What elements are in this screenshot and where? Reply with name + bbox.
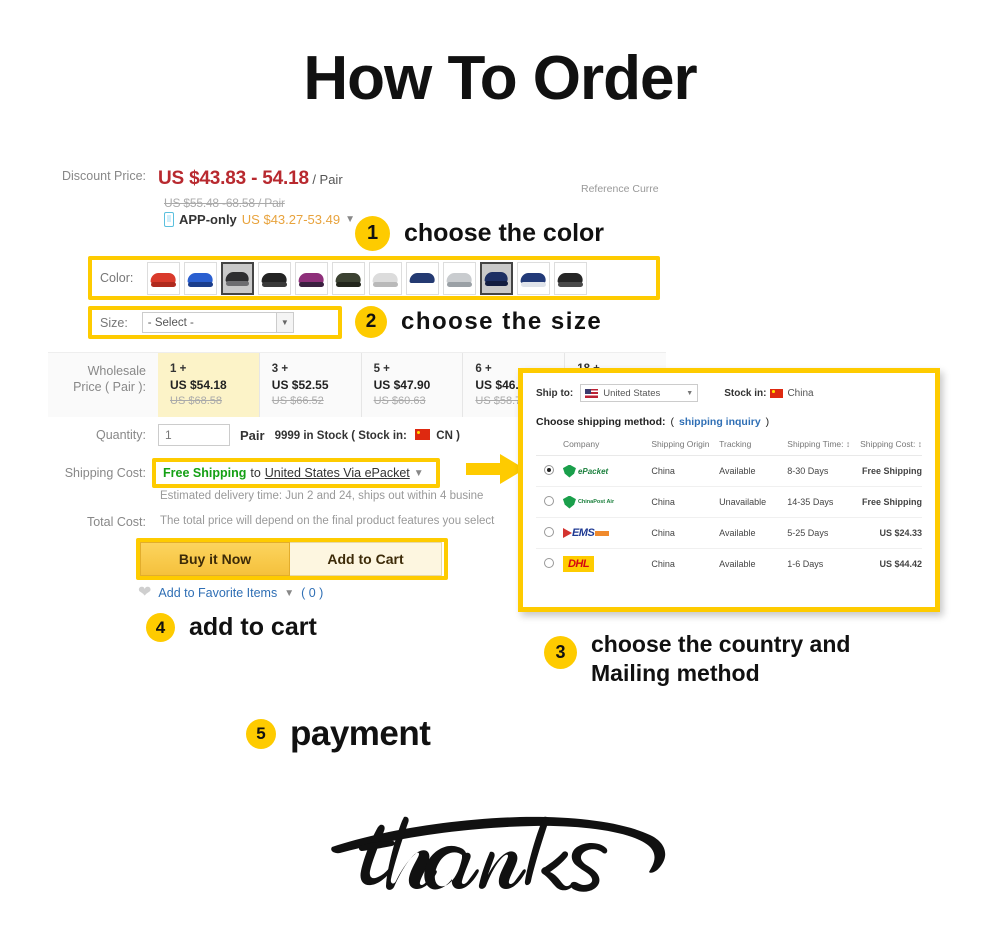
shipping-method-radio-cell[interactable] <box>536 549 563 580</box>
tier-old-price: US $68.58 <box>170 393 259 409</box>
color-swatch-black[interactable] <box>258 262 291 295</box>
shipping-cost-label: Shipping Cost: <box>48 466 158 480</box>
sort-icon[interactable]: ↕ <box>846 439 850 449</box>
tier-price: US $47.90 <box>374 377 463 393</box>
step-4-annotation: 4 add to cart <box>146 613 317 642</box>
shipping-origin-cell: China <box>651 549 719 580</box>
color-selector: Color: <box>92 260 656 296</box>
header-shipping-origin: Shipping Origin <box>651 436 719 456</box>
stock-country: CN ) <box>436 430 460 442</box>
carrier-cell: ChinaPost Air <box>563 487 651 518</box>
favorite-count: ( 0 ) <box>301 586 323 600</box>
shipping-time-cell: 14-35 Days <box>787 487 853 518</box>
shipping-popup-inner: Ship to: United States ▼ Stock in: China… <box>523 373 935 607</box>
step-1-badge: 1 <box>355 216 390 251</box>
shipping-method-popup: Ship to: United States ▼ Stock in: China… <box>518 368 940 612</box>
quantity-input[interactable]: 1 <box>158 424 230 446</box>
china-flag-icon <box>770 389 783 398</box>
size-label: Size: <box>100 316 128 330</box>
size-selector: Size: - Select - ▼ <box>92 310 338 335</box>
discount-price-value: US $43.83 - 54.18 <box>158 168 309 189</box>
how-to-order-infographic: How To Order Discount Price: US $43.83 -… <box>0 0 1000 925</box>
inquiry-paren-close: ) <box>766 416 770 428</box>
shipping-table-header-row: Company Shipping Origin Tracking Shippin… <box>536 436 922 456</box>
radio-button-icon[interactable] <box>544 527 554 537</box>
shoe-thumbnail-icon <box>299 273 324 287</box>
shipping-cost-cell: Free Shipping <box>853 487 922 518</box>
radio-button-icon[interactable] <box>544 558 554 568</box>
color-swatch-list <box>147 262 587 295</box>
radio-button-icon[interactable] <box>544 496 554 506</box>
stock-in-value: China <box>787 388 813 399</box>
shipping-method-radio-cell[interactable] <box>536 518 563 549</box>
shipping-method-radio-cell[interactable] <box>536 487 563 518</box>
size-dropdown[interactable]: - Select - ▼ <box>142 312 294 333</box>
action-buttons-highlight: Buy it Now Add to Cart <box>136 538 448 580</box>
country-dropdown[interactable]: United States ▼ <box>580 384 698 402</box>
color-swatch-blue[interactable] <box>184 262 217 295</box>
reference-currency-label: Reference Curre <box>581 183 659 195</box>
choose-shipping-method-row: Choose shipping method: (shipping inquir… <box>536 416 922 428</box>
shoe-thumbnail-icon <box>373 273 398 287</box>
tier-price: US $54.18 <box>170 377 259 393</box>
price-tier: 3 +US $52.55US $66.52 <box>260 353 362 417</box>
tracking-cell: Unavailable <box>719 487 787 518</box>
shipping-time-cell: 5-25 Days <box>787 518 853 549</box>
country-value: United States <box>603 388 660 399</box>
shipping-origin-cell: China <box>651 487 719 518</box>
sort-icon[interactable]: ↕ <box>918 439 922 449</box>
mobile-phone-icon <box>164 212 174 227</box>
color-swatch-light-grey[interactable] <box>443 262 476 295</box>
size-selector-highlight: Size: - Select - ▼ <box>88 306 342 339</box>
step-5-annotation: 5 payment <box>246 714 430 754</box>
step-4-text: add to cart <box>189 613 317 642</box>
shoe-thumbnail-icon <box>226 272 249 286</box>
shipping-cost-value[interactable]: Free Shipping to United States Via ePack… <box>156 462 436 484</box>
shoe-thumbnail-icon <box>151 273 176 287</box>
tier-quantity: 5 + <box>374 361 463 377</box>
us-flag-icon <box>585 389 598 398</box>
color-swatch-navy-blue[interactable] <box>517 262 550 295</box>
header-company: Company <box>563 436 651 456</box>
free-shipping-text: Free Shipping <box>163 466 246 480</box>
color-swatch-purple-magenta[interactable] <box>295 262 328 295</box>
step-5-text: payment <box>290 714 430 754</box>
color-swatch-navy[interactable] <box>406 262 439 295</box>
shipping-method-row[interactable]: ePacketChinaAvailable8-30 DaysFree Shipp… <box>536 456 922 487</box>
page-title: How To Order <box>0 48 1000 110</box>
estimated-delivery-text: Estimated delivery time: Jun 2 and 24, s… <box>160 490 540 502</box>
step-2-annotation: 2 choose the size <box>355 306 602 338</box>
color-swatch-royal-navy[interactable] <box>480 262 513 295</box>
chevron-down-icon[interactable]: ▼ <box>686 390 693 397</box>
header-shipping-time[interactable]: Shipping Time: ↕ <box>787 436 853 456</box>
header-shipping-cost-label: Shipping Cost: <box>860 439 915 449</box>
ems-logo: EMS <box>563 525 651 541</box>
size-dropdown-value: - Select - <box>148 317 194 329</box>
step-1-text: choose the color <box>404 219 604 248</box>
chevron-down-icon[interactable]: ▼ <box>414 468 424 479</box>
discount-price-unit: / Pair <box>312 172 342 187</box>
shipping-method-row[interactable]: ChinaPost AirChinaUnavailable14-35 DaysF… <box>536 487 922 518</box>
wholesale-label-line2: Price ( Pair ): <box>48 379 146 395</box>
radio-button-icon[interactable] <box>544 465 554 475</box>
tier-quantity: 1 + <box>170 361 259 377</box>
wholesale-price-label: Wholesale Price ( Pair ): <box>48 353 158 417</box>
carrier-cell: EMS <box>563 518 651 549</box>
add-to-favorite-row[interactable]: ❤ Add to Favorite Items ▼ ( 0 ) <box>138 585 323 601</box>
carrier-cell: ePacket <box>563 456 651 487</box>
shipping-methods-table: Company Shipping Origin Tracking Shippin… <box>536 436 922 579</box>
choose-shipping-method-label: Choose shipping method: <box>536 416 666 428</box>
header-shipping-cost[interactable]: Shipping Cost: ↕ <box>853 436 922 456</box>
shipping-popup-header: Ship to: United States ▼ Stock in: China <box>536 384 922 402</box>
step-1-annotation: 1 choose the color <box>355 216 604 251</box>
tier-quantity: 3 + <box>272 361 361 377</box>
shipping-origin-cell: China <box>651 456 719 487</box>
step-2-badge: 2 <box>355 306 387 338</box>
stock-info: 9999 in Stock ( Stock in: CN ) <box>275 429 460 442</box>
shipping-cost-cell: US $44.42 <box>853 549 922 580</box>
add-to-cart-button[interactable]: Add to Cart <box>290 542 442 576</box>
heart-icon: ❤ <box>138 585 151 601</box>
discount-price-label: Discount Price: <box>48 168 158 185</box>
step-5-badge: 5 <box>246 719 276 749</box>
ship-to-word: to <box>250 466 260 480</box>
shipping-time-cell: 8-30 Days <box>787 456 853 487</box>
stock-in-label: Stock in: <box>724 388 766 399</box>
buy-it-now-button[interactable]: Buy it Now <box>140 542 290 576</box>
dhl-logo: DHL <box>563 556 651 572</box>
shoe-thumbnail-icon <box>262 273 287 287</box>
color-swatch-black-grey[interactable] <box>221 262 254 295</box>
shipping-inquiry-link[interactable]: shipping inquiry <box>679 416 761 428</box>
color-swatch-white-grey[interactable] <box>369 262 402 295</box>
shipping-cost-cell: Free Shipping <box>853 456 922 487</box>
carrier-cell: DHL <box>563 549 651 580</box>
quantity-label: Quantity: <box>48 428 158 442</box>
shipping-table-body: ePacketChinaAvailable8-30 DaysFree Shipp… <box>536 456 922 580</box>
stock-count-text: 9999 in Stock ( Stock in: <box>275 430 407 442</box>
tracking-cell: Available <box>719 549 787 580</box>
wholesale-label-line1: Wholesale <box>48 363 146 379</box>
quantity-unit: Pair <box>240 428 265 443</box>
price-tier: 1 +US $54.18US $68.58 <box>158 353 260 417</box>
step-4-badge: 4 <box>146 613 175 642</box>
shoe-thumbnail-icon <box>336 273 361 287</box>
shipping-cost-highlight: Free Shipping to United States Via ePack… <box>152 458 440 488</box>
shoe-thumbnail-icon <box>521 273 546 287</box>
add-to-favorite-label[interactable]: Add to Favorite Items <box>158 586 277 600</box>
ship-to-label: Ship to: <box>536 388 573 399</box>
chinapost-logo: ChinaPost Air <box>563 494 651 510</box>
total-cost-label: Total Cost: <box>48 515 158 529</box>
flow-arrow-icon <box>466 452 526 486</box>
tier-old-price: US $66.52 <box>272 393 361 409</box>
step-2-text: choose the size <box>401 308 602 336</box>
china-flag-icon <box>415 429 430 440</box>
header-select <box>536 436 563 456</box>
shipping-origin-cell: China <box>651 518 719 549</box>
color-selector-highlight: Color: <box>88 256 660 300</box>
header-shipping-time-label: Shipping Time: <box>787 439 843 449</box>
shoe-thumbnail-icon <box>485 272 508 286</box>
shipping-destination-link[interactable]: United States Via ePacket <box>265 466 410 480</box>
epacket-logo: ePacket <box>563 463 651 479</box>
step-3-text: choose the country and Mailing method <box>591 630 850 688</box>
app-only-price: US $43.27-53.49 <box>242 212 340 227</box>
shoe-thumbnail-icon <box>447 273 472 287</box>
total-cost-text: The total price will depend on the final… <box>160 515 494 527</box>
tracking-cell: Available <box>719 456 787 487</box>
shoe-thumbnail-icon <box>558 273 583 287</box>
shipping-cost-cell: US $24.33 <box>853 518 922 549</box>
action-buttons: Buy it Now Add to Cart <box>140 542 444 576</box>
shipping-table-head: Company Shipping Origin Tracking Shippin… <box>536 436 922 456</box>
app-only-label: APP-only <box>179 212 237 227</box>
step-3-badge: 3 <box>544 636 577 669</box>
chevron-down-icon[interactable]: ▼ <box>345 214 355 225</box>
header-tracking: Tracking <box>719 436 787 456</box>
shipping-method-radio-cell[interactable] <box>536 456 563 487</box>
old-price-value: US $55.48 -68.58 / Pair <box>164 196 688 210</box>
inquiry-paren-open: ( <box>671 416 675 428</box>
color-label: Color: <box>100 271 133 285</box>
step-3-annotation: 3 choose the country and Mailing method <box>544 630 850 688</box>
shipping-time-cell: 1-6 Days <box>787 549 853 580</box>
stock-in-group: Stock in: China <box>724 388 813 399</box>
thanks-signature <box>320 795 690 905</box>
tier-old-price: US $60.63 <box>374 393 463 409</box>
shipping-method-row[interactable]: EMSChinaAvailable5-25 DaysUS $24.33 <box>536 518 922 549</box>
tier-price: US $52.55 <box>272 377 361 393</box>
shoe-thumbnail-icon <box>188 273 213 287</box>
chevron-down-icon[interactable]: ▼ <box>276 313 293 332</box>
shipping-method-row[interactable]: DHLChinaAvailable1-6 DaysUS $44.42 <box>536 549 922 580</box>
color-swatch-black-dark[interactable] <box>554 262 587 295</box>
color-swatch-red[interactable] <box>147 262 180 295</box>
tracking-cell: Available <box>719 518 787 549</box>
color-swatch-olive-dark[interactable] <box>332 262 365 295</box>
price-tier: 5 +US $47.90US $60.63 <box>362 353 464 417</box>
chevron-down-icon[interactable]: ▼ <box>284 588 294 599</box>
shoe-thumbnail-icon <box>410 273 435 287</box>
